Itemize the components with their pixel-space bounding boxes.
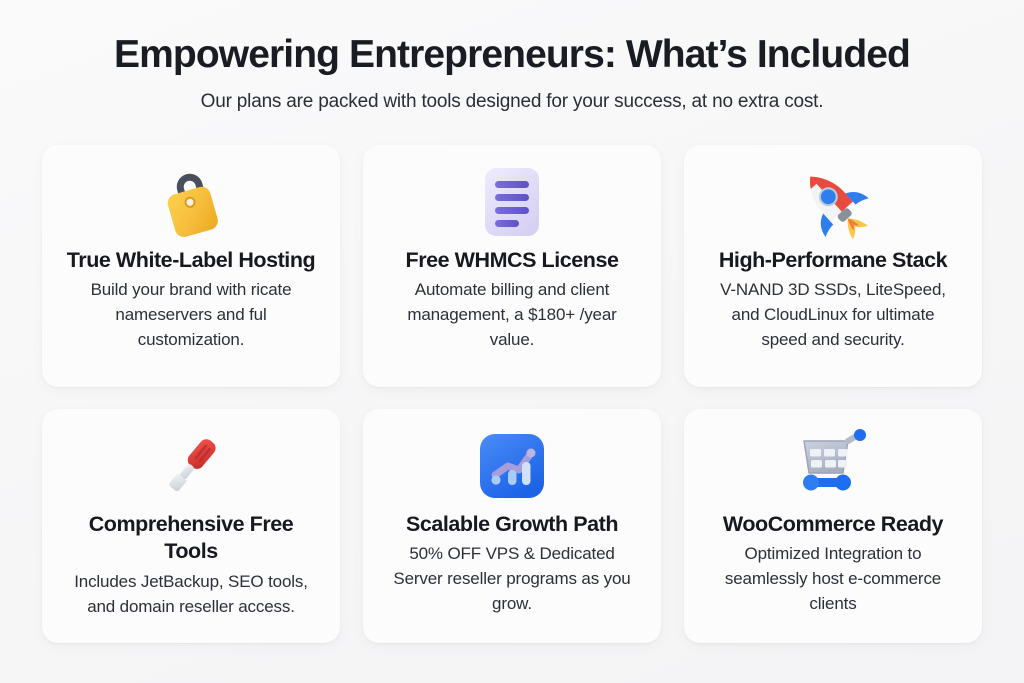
card-description: V-NAND 3D SSDs, LiteSpeed, and CloudLinu… xyxy=(707,278,959,352)
rocket-icon xyxy=(791,159,875,245)
feature-card-comprehensive-free-tools[interactable]: Comprehensive Free Tools Includes JetBac… xyxy=(42,409,340,643)
card-title: Free WHMCS License xyxy=(406,247,619,275)
page-title: Empowering Entrepreneurs: What’s Include… xyxy=(42,33,982,78)
luggage-tag-icon xyxy=(151,159,231,245)
feature-card-high-performance-stack[interactable]: High-Performane Stack V-NAND 3D SSDs, Li… xyxy=(684,145,982,387)
page-subtitle: Our plans are packed with tools designed… xyxy=(42,90,982,115)
card-title: Scalable Growth Path xyxy=(406,511,618,539)
growth-chart-icon xyxy=(475,423,549,509)
card-title: High-Performane Stack xyxy=(719,247,947,275)
card-title: Comprehensive Free Tools xyxy=(64,511,319,567)
card-description: Automate billing and client management, … xyxy=(386,278,638,352)
card-description: Includes JetBackup, SEO tools, and domai… xyxy=(65,570,317,620)
card-title: True White-Label Hosting xyxy=(67,247,315,275)
feature-card-scalable-growth-path[interactable]: Scalable Growth Path 50% OFF VPS & Dedic… xyxy=(363,409,661,643)
shopping-cart-icon xyxy=(790,423,876,509)
card-title: WooCommerce Ready xyxy=(723,511,943,539)
feature-card-free-whmcs-license[interactable]: Free WHMCS License Automate billing and … xyxy=(363,145,661,387)
screwdriver-icon xyxy=(151,423,231,509)
card-description: 50% OFF VPS & Dedicated Server reseller … xyxy=(386,542,638,616)
card-description: Optimized Integration to seamlessly host… xyxy=(707,542,959,616)
feature-card-true-white-label-hosting[interactable]: True White-Label Hosting Build your bran… xyxy=(42,145,340,387)
section-header: Empowering Entrepreneurs: What’s Include… xyxy=(42,0,982,115)
feature-card-grid: True White-Label Hosting Build your bran… xyxy=(42,145,982,643)
document-list-icon xyxy=(477,159,547,245)
card-description: Build your brand with ricate nameservers… xyxy=(65,278,317,352)
feature-section: Empowering Entrepreneurs: What’s Include… xyxy=(0,0,1024,683)
feature-card-woocommerce-ready[interactable]: WooCommerce Ready Optimized Integration … xyxy=(684,409,982,643)
